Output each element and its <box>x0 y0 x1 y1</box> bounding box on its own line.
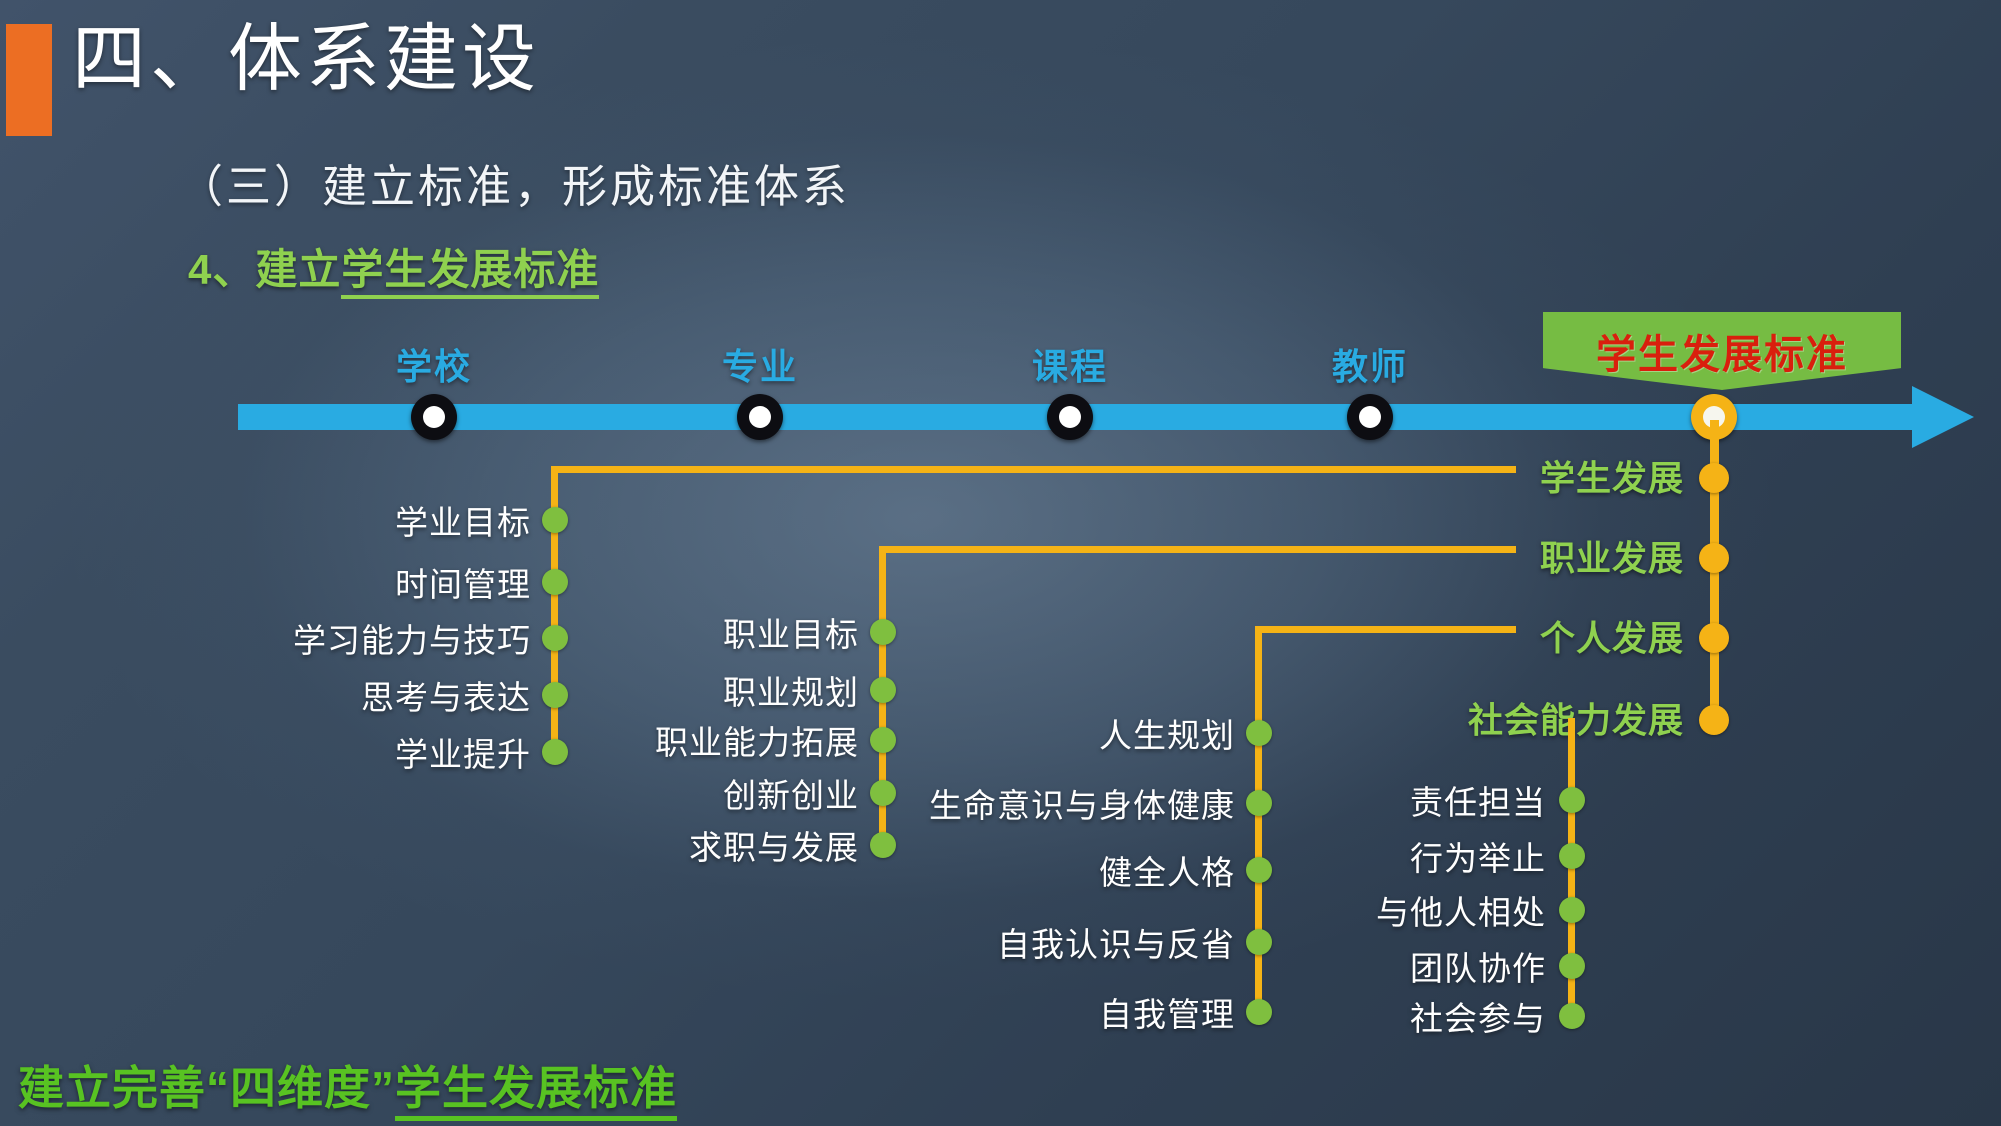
connector-line-1 <box>879 546 1516 553</box>
column-1-node-2[interactable] <box>870 727 896 753</box>
timeline-arrowhead-icon <box>1912 386 1974 448</box>
dimension-label-0: 学生发展 <box>1540 451 1684 502</box>
footer-slogan: 建立完善“四维度”学生发展标准 <box>18 1052 677 1118</box>
column-3-node-3[interactable] <box>1559 953 1585 979</box>
column-1-node-1[interactable] <box>870 677 896 703</box>
column-0-item-1: 时间管理 <box>395 558 531 606</box>
timeline-node-3[interactable] <box>1347 394 1393 440</box>
section-heading-underlined: 学生发展标准 <box>341 246 599 299</box>
column-0-node-2[interactable] <box>542 625 568 651</box>
column-3-node-0[interactable] <box>1559 787 1585 813</box>
slide-canvas: 四、体系建设 （三）建立标准，形成标准体系 4、建立学生发展标准 学校 专业 课… <box>0 0 2001 1126</box>
column-1-item-4: 求职与发展 <box>689 821 859 869</box>
orange-accent-bar <box>6 24 52 136</box>
dimension-node-3[interactable] <box>1699 705 1729 735</box>
dimension-label-3: 社会能力发展 <box>1468 693 1684 744</box>
column-2-node-3[interactable] <box>1246 929 1272 955</box>
highlight-banner-label: 学生发展标准 <box>1543 322 1901 380</box>
column-0-item-2: 学习能力与技巧 <box>293 614 531 662</box>
column-3-item-1: 行为举止 <box>1410 832 1546 880</box>
timeline-label-0: 学校 <box>396 338 472 390</box>
column-2-node-0[interactable] <box>1246 720 1272 746</box>
column-3-item-3: 团队协作 <box>1410 942 1546 990</box>
dimension-node-2[interactable] <box>1699 623 1729 653</box>
column-3-item-0: 责任担当 <box>1410 776 1546 824</box>
column-1-item-3: 创新创业 <box>723 769 859 817</box>
column-3-node-2[interactable] <box>1559 897 1585 923</box>
page-title: 四、体系建设 <box>72 22 540 96</box>
column-0-node-4[interactable] <box>542 739 568 765</box>
column-0-item-4: 学业提升 <box>395 728 531 776</box>
column-0-node-1[interactable] <box>542 569 568 595</box>
column-1-item-1: 职业规划 <box>723 666 859 714</box>
timeline-label-2: 课程 <box>1032 338 1108 390</box>
dimension-label-1: 职业发展 <box>1540 531 1684 582</box>
column-3-node-4[interactable] <box>1559 1003 1585 1029</box>
column-2-item-3: 自我认识与反省 <box>997 918 1235 966</box>
column-2-item-4: 自我管理 <box>1099 988 1235 1036</box>
column-2-item-1: 生命意识与身体健康 <box>929 779 1235 827</box>
column-2-item-2: 健全人格 <box>1099 846 1235 894</box>
connector-line-2 <box>1255 626 1516 633</box>
column-1-node-3[interactable] <box>870 780 896 806</box>
column-1-item-0: 职业目标 <box>723 608 859 656</box>
timeline-node-1[interactable] <box>737 394 783 440</box>
column-spine-2 <box>1255 626 1262 1016</box>
column-3-item-2: 与他人相处 <box>1376 886 1546 934</box>
section-heading-prefix: 4、建立 <box>188 246 341 293</box>
column-1-node-4[interactable] <box>870 832 896 858</box>
dimension-label-2: 个人发展 <box>1540 611 1684 662</box>
column-3-node-1[interactable] <box>1559 843 1585 869</box>
column-0-node-0[interactable] <box>542 507 568 533</box>
timeline-node-2[interactable] <box>1047 394 1093 440</box>
column-2-node-2[interactable] <box>1246 857 1272 883</box>
column-2-item-0: 人生规划 <box>1099 709 1235 757</box>
dimension-node-0[interactable] <box>1699 463 1729 493</box>
timeline-label-1: 专业 <box>722 338 798 390</box>
column-1-item-2: 职业能力拓展 <box>655 716 859 764</box>
page-subtitle: （三）建立标准，形成标准体系 <box>178 150 850 215</box>
dimension-node-1[interactable] <box>1699 543 1729 573</box>
footer-prefix: 建立完善“四维度” <box>18 1062 395 1114</box>
column-1-node-0[interactable] <box>870 619 896 645</box>
column-0-node-3[interactable] <box>542 682 568 708</box>
column-0-item-0: 学业目标 <box>395 496 531 544</box>
column-3-item-4: 社会参与 <box>1410 992 1546 1040</box>
column-2-node-4[interactable] <box>1246 999 1272 1025</box>
footer-underlined: 学生发展标准 <box>395 1062 677 1121</box>
column-0-item-3: 思考与表达 <box>361 671 531 719</box>
timeline-label-3: 教师 <box>1332 338 1408 390</box>
column-2-node-1[interactable] <box>1246 790 1272 816</box>
section-heading: 4、建立学生发展标准 <box>188 236 599 297</box>
connector-line-0 <box>551 466 1516 473</box>
timeline-node-0[interactable] <box>411 394 457 440</box>
